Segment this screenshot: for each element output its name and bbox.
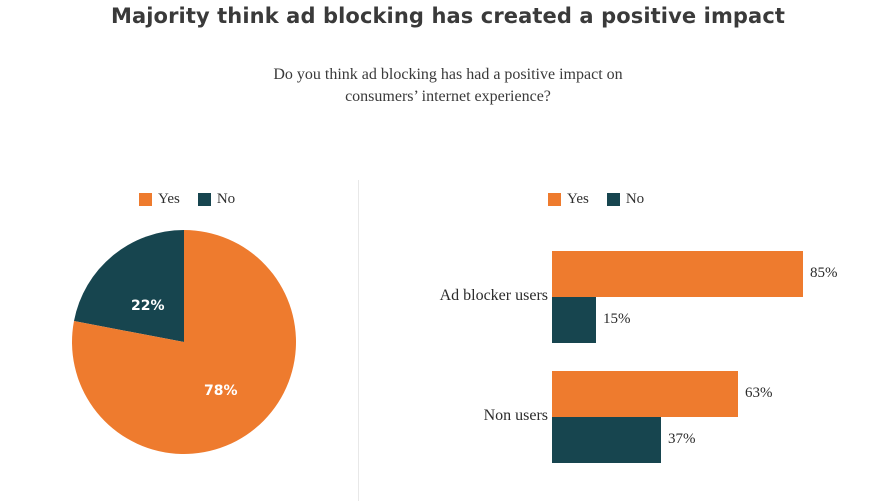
panel-divider: [358, 180, 359, 501]
chart-subtitle: Do you think ad blocking has had a posit…: [0, 64, 896, 108]
chart-canvas: Majority think ad blocking has created a…: [0, 0, 896, 501]
bar-value-label: 63%: [745, 385, 773, 402]
pie-slice-label-yes: 78%: [204, 383, 238, 399]
bar-value-label: 37%: [668, 431, 696, 448]
bar-non-users-no[interactable]: [552, 417, 661, 463]
pie-chart-svg: [72, 230, 296, 454]
legend-swatch-yes: [139, 193, 152, 206]
bar-legend-item-no[interactable]: No: [607, 192, 644, 207]
bar-ad-blocker-users-yes[interactable]: [552, 251, 803, 297]
pie-slice-label-no: 22%: [131, 298, 165, 314]
bar-value-label: 15%: [603, 311, 631, 328]
bar-legend-label-no: No: [626, 192, 644, 207]
legend-swatch-no: [198, 193, 211, 206]
pie-chart: [72, 230, 296, 454]
legend-swatch-no: [607, 193, 620, 206]
chart-subtitle-line-1: Do you think ad blocking has had a posit…: [0, 64, 896, 86]
pie-legend-item-no[interactable]: No: [198, 192, 235, 207]
pie-legend-label-yes: Yes: [158, 192, 180, 207]
legend-swatch-yes: [548, 193, 561, 206]
bar-category-label: Ad blocker users: [400, 287, 548, 305]
bar-legend: Yes No: [548, 192, 644, 207]
page-title: Majority think ad blocking has created a…: [0, 4, 896, 28]
pie-legend-label-no: No: [217, 192, 235, 207]
bar-legend-label-yes: Yes: [567, 192, 589, 207]
pie-legend-item-yes[interactable]: Yes: [139, 192, 180, 207]
pie-legend: Yes No: [139, 192, 235, 207]
bar-ad-blocker-users-no[interactable]: [552, 297, 596, 343]
bar-category-label: Non users: [400, 407, 548, 425]
bar-legend-item-yes[interactable]: Yes: [548, 192, 589, 207]
bar-non-users-yes[interactable]: [552, 371, 738, 417]
bar-value-label: 85%: [810, 265, 838, 282]
chart-subtitle-line-2: consumers’ internet experience?: [0, 86, 896, 108]
